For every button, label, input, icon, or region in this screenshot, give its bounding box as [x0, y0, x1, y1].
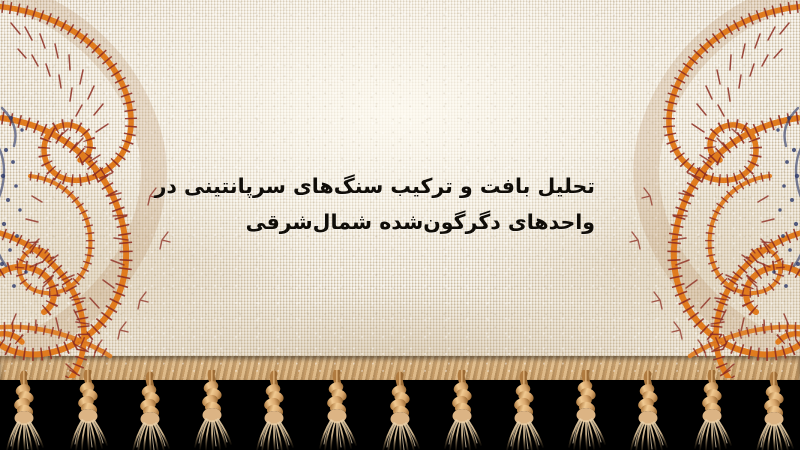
title-line-2: واحدهای دگرگون‌شده شمال‌شرقی	[195, 204, 595, 240]
title-line-1: تحلیل بافت و ترکیب سنگ‌های سرپانتینی در	[195, 168, 595, 204]
bottom-black-band	[0, 370, 800, 450]
slide-canvas: تحلیل بافت و ترکیب سنگ‌های سرپانتینی در …	[0, 0, 800, 450]
fabric-selvedge-edge	[0, 356, 800, 380]
slide-title: تحلیل بافت و ترکیب سنگ‌های سرپانتینی در …	[195, 168, 595, 240]
